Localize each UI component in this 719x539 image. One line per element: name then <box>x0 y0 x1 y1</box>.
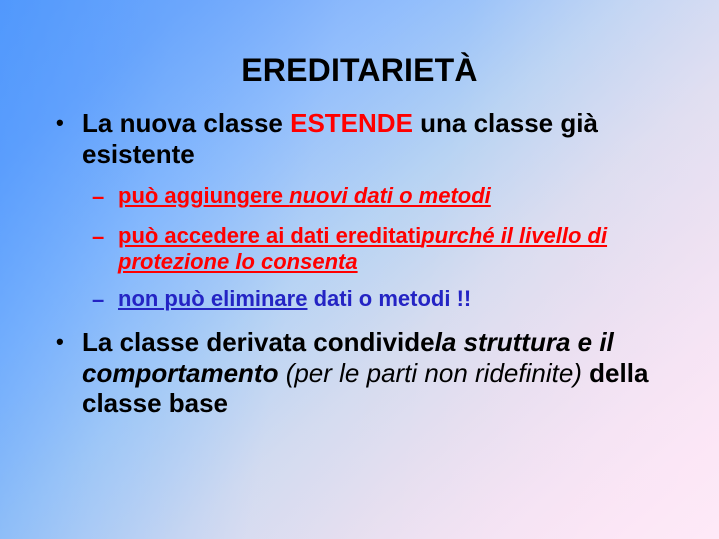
slide-content: • La nuova classe ESTENDE una classe già… <box>0 108 719 419</box>
slide-canvas: EREDITARIETÀ • La nuova classe ESTENDE u… <box>0 0 719 539</box>
sub-bullet-1-segment-1: può aggiungere <box>118 183 289 208</box>
spacer-1 <box>0 169 719 183</box>
bullet-2-segment-1: La classe derivata condivide <box>82 327 435 357</box>
bullet-item-1: • La nuova classe ESTENDE una classe già… <box>0 108 719 169</box>
bullet-marker-dot-2: • <box>56 327 82 357</box>
sub-bullet-text-1: può aggiungere nuovi dati o metodi <box>118 183 664 209</box>
sub-bullet-marker-dash-2: – <box>92 223 118 251</box>
bullet-1-segment-1: La nuova classe <box>82 108 290 138</box>
sub-bullet-3-segment-2: dati o metodi !! <box>307 286 471 311</box>
sub-bullet-marker-dash-1: – <box>92 183 118 211</box>
sub-bullet-text-2: può accedere ai dati ereditatipurché il … <box>118 223 664 276</box>
bullet-marker-dot: • <box>56 108 82 138</box>
bullet-item-2: • La classe derivata condividela struttu… <box>0 327 719 419</box>
sub-bullet-1-segment-2-italic: nuovi dati o metodi <box>289 183 491 208</box>
spacer-4 <box>0 313 719 327</box>
page-title: EREDITARIETÀ <box>0 0 719 86</box>
sub-bullet-item-3: – non può eliminare dati o metodi !! <box>0 286 719 314</box>
spacer-3 <box>0 276 719 286</box>
sub-bullet-2-segment-1: può accedere ai dati ereditati <box>118 223 421 248</box>
bullet-1-segment-2-estende: ESTENDE <box>290 108 413 138</box>
sub-bullet-text-3: non può eliminare dati o metodi !! <box>118 286 664 312</box>
bullet-text-2: La classe derivata condividela struttura… <box>82 327 679 419</box>
bullet-2-segment-3-parenthetical: (per le parti non ridefinite) <box>286 358 582 388</box>
sub-bullet-item-2: – può accedere ai dati ereditatipurché i… <box>0 223 719 276</box>
bullet-text-1: La nuova classe ESTENDE una classe già e… <box>82 108 679 169</box>
spacer-2 <box>0 211 719 223</box>
sub-bullet-3-segment-1-underlined: non può eliminare <box>118 286 307 311</box>
sub-bullet-marker-dash-3: – <box>92 286 118 314</box>
sub-bullet-item-1: – può aggiungere nuovi dati o metodi <box>0 183 719 211</box>
